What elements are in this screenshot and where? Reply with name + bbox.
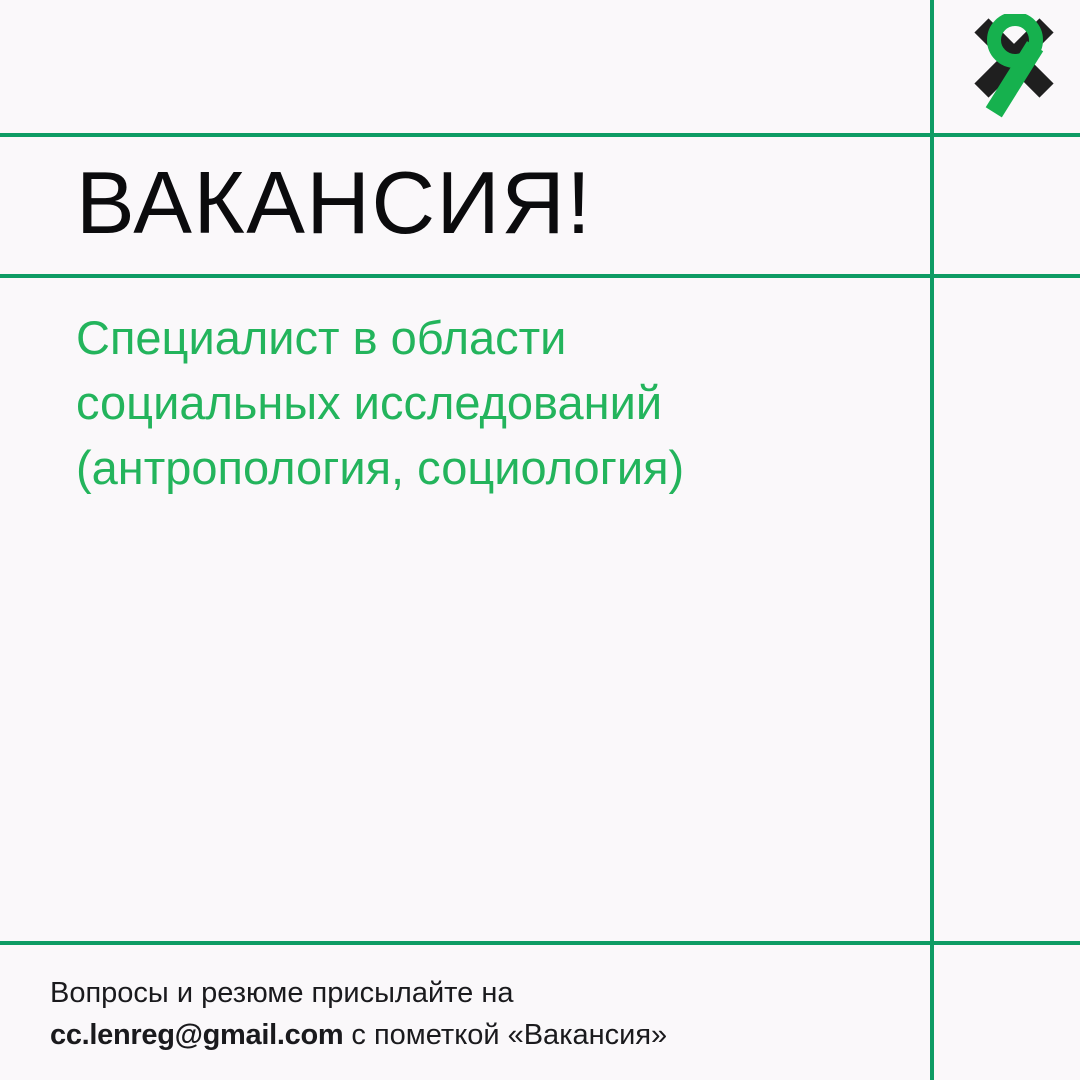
contact-footer: Вопросы и резюме присылайте на cc.lenreg… bbox=[50, 972, 900, 1056]
divider-top bbox=[0, 133, 1080, 137]
job-title-line-3: (антропология, социология) bbox=[76, 435, 906, 500]
job-title: Специалист в области социальных исследов… bbox=[76, 305, 906, 500]
contact-email[interactable]: cc.lenreg@gmail.com bbox=[50, 1019, 343, 1051]
x-person-logo bbox=[957, 14, 1063, 120]
logo-head-ring bbox=[994, 19, 1036, 61]
job-title-line-1: Специалист в области bbox=[76, 305, 906, 370]
contact-email-suffix: с пометкой «Вакансия» bbox=[343, 1019, 667, 1051]
divider-right-column bbox=[930, 0, 934, 1080]
page-title: ВАКАНСИЯ! bbox=[76, 152, 906, 254]
divider-bottom bbox=[0, 941, 1080, 945]
contact-email-line: cc.lenreg@gmail.com с пометкой «Вакансия… bbox=[50, 1014, 900, 1056]
contact-instruction: Вопросы и резюме присылайте на bbox=[50, 972, 900, 1014]
poster-canvas: ВАКАНСИЯ! Специалист в области социальны… bbox=[0, 0, 1080, 1080]
job-title-line-2: социальных исследований bbox=[76, 370, 906, 435]
divider-middle bbox=[0, 274, 1080, 278]
